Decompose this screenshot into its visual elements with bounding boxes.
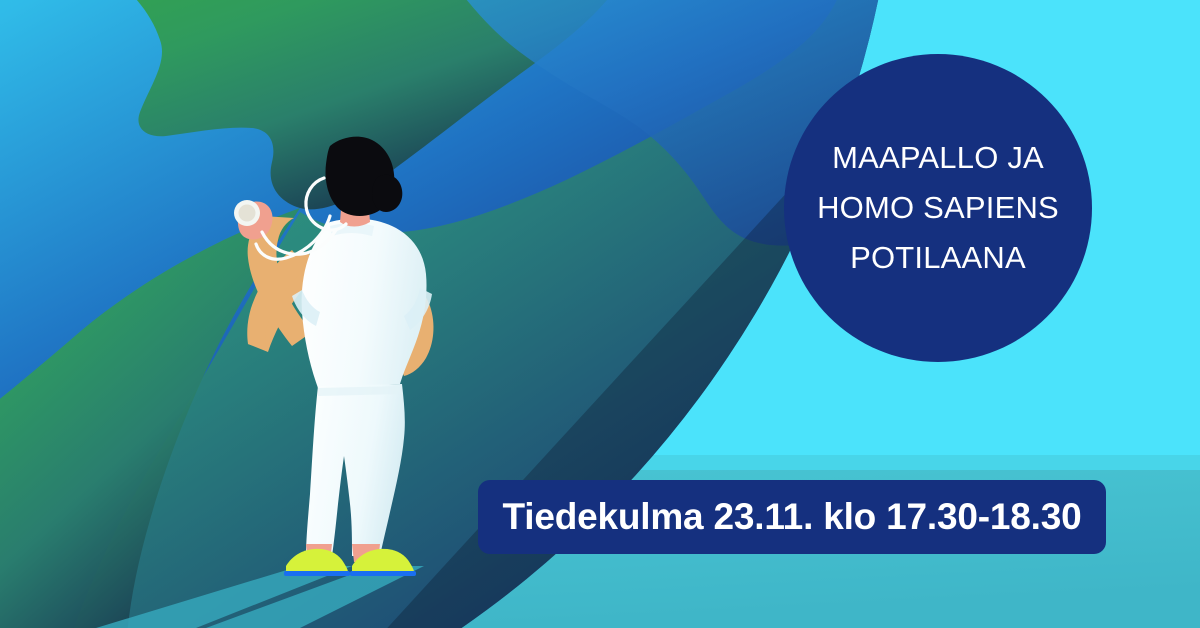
right-shoe-sole bbox=[350, 571, 416, 576]
badge-line-1: MAAPALLO JA bbox=[832, 133, 1044, 183]
hair-bun bbox=[372, 175, 402, 212]
stethoscope-diaphragm bbox=[239, 205, 256, 222]
title-badge: MAAPALLO JA HOMO SAPIENS POTILAANA bbox=[784, 54, 1092, 362]
badge-line-3: POTILAANA bbox=[850, 233, 1026, 283]
event-details-banner: Tiedekulma 23.11. klo 17.30-18.30 bbox=[478, 480, 1106, 554]
badge-line-2: HOMO SAPIENS bbox=[817, 183, 1059, 233]
event-details-text: Tiedekulma 23.11. klo 17.30-18.30 bbox=[503, 496, 1082, 538]
scrub-top bbox=[302, 219, 427, 388]
event-poster: MAAPALLO JA HOMO SAPIENS POTILAANA Tiede… bbox=[0, 0, 1200, 628]
left-shoe-sole bbox=[284, 571, 350, 576]
